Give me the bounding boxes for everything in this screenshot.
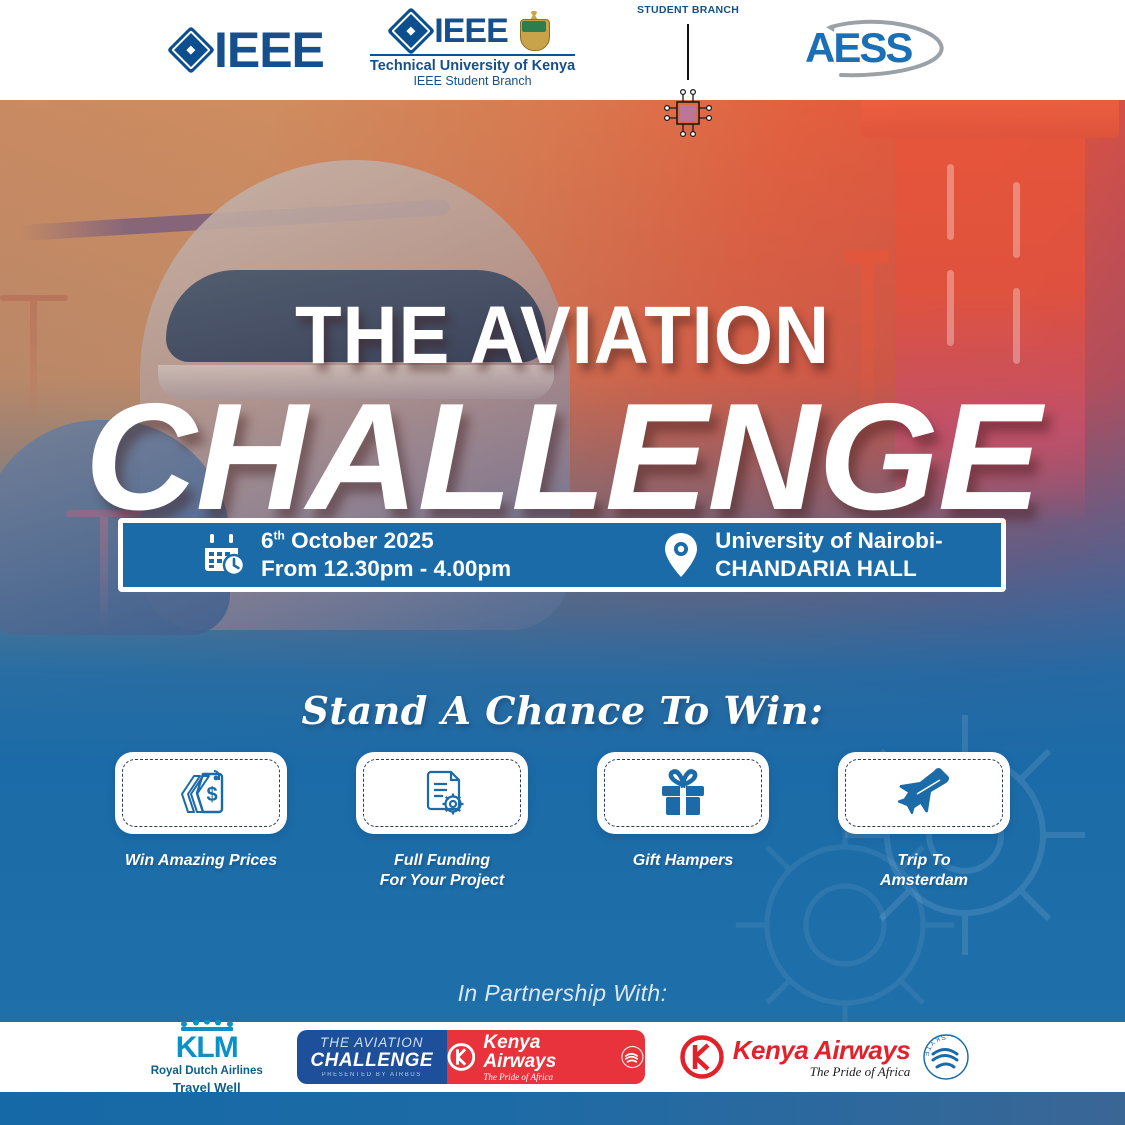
prize-item: Trip To Amsterdam [833,752,1015,892]
footer-strip [0,1092,1125,1125]
svg-text:$: $ [206,784,217,806]
prize-label: Gift Hampers [633,851,733,871]
prize-card [356,752,528,834]
ieee-uon-logo: ◆ IEEE UNIVERSITY OF NAIROBI STUDENT BRA… [621,0,755,139]
prize-label: Trip To Amsterdam [880,851,968,892]
aviation-challenge-mark: THE AVIATION CHALLENGE PRESENTED BY AIRB… [297,1030,447,1084]
event-info-bar: 6th October 2025 From 12.30pm - 4.00pm U… [118,518,1006,592]
tac-line-3: PRESENTED BY AIRBUS [322,1072,422,1078]
tuk-crest-icon [517,11,551,51]
tuk-name: Technical University of Kenya [370,58,575,75]
aess-logo: AESS [801,19,951,81]
ieee-logo: ◆ IEEE [174,25,324,75]
prizes-row: $ Win Amazing Prices [110,752,1015,892]
kenya-airways-k-icon [679,1034,725,1080]
ieee-tuk-logo: ◆ IEEE Technical University of Kenya IEE… [370,11,575,90]
location-pin-icon [661,531,701,579]
event-time: From 12.30pm - 4.00pm [261,555,511,583]
calendar-clock-icon [201,532,247,578]
skyteam-icon: SKYTEAM [918,1029,974,1085]
tac-line-2: CHALLENGE [310,1051,433,1070]
ieee-diamond-icon: ◆ [387,7,435,55]
venue-line-2: CHANDARIA HALL [715,555,943,583]
title-line-2: CHALLENGE [0,381,1125,533]
prize-label: Full Funding For Your Project [380,851,504,892]
tuk-branch: IEEE Student Branch [370,74,575,89]
klm-subtitle: Royal Dutch Airlines [151,1066,263,1078]
prize-label: Win Amazing Prices [125,851,277,871]
partners-heading: In Partnership With: [0,980,1125,1007]
document-gear-icon [413,764,471,822]
kq-wordmark: Kenya Airways [733,1037,911,1063]
gift-box-icon [654,764,712,822]
ieee-wordmark: IEEE [214,25,324,75]
aviation-challenge-kq-badge: THE AVIATION CHALLENGE PRESENTED BY AIRB… [297,1030,645,1084]
sponsor-logo-band: ◆ IEEE ◆ IEEE Technical University of Ke… [0,0,1125,100]
kenya-airways-k-icon [447,1042,476,1072]
event-venue-block: University of Nairobi- CHANDARIA HALL [661,527,943,583]
prize-card [838,752,1010,834]
kq-tagline: The Pride of Africa [733,1065,911,1078]
prize-item: Full Funding For Your Project [351,752,533,892]
ieee-wordmark: IEEE [434,14,507,48]
logo-divider [687,24,689,80]
prize-card: $ [115,752,287,834]
kenya-airways-white-mark: Kenya Airways The Pride of Africa [447,1030,645,1084]
airplane-icon [893,764,955,822]
prize-item: Gift Hampers [592,752,774,892]
aess-wordmark: AESS [805,27,911,69]
price-tag-icon: $ [172,764,230,822]
klm-wordmark: KLM [176,1033,238,1063]
tac-line-1: THE AVIATION [320,1036,424,1050]
prizes-heading: Stand A Chance To Win: [0,688,1125,733]
uon-name: UNIVERSITY OF NAIROBI [621,0,755,4]
event-poster: ◆ IEEE ◆ IEEE Technical University of Ke… [0,0,1125,1125]
title-line-1: THE AVIATION [39,295,1085,377]
prize-item: $ Win Amazing Prices [110,752,292,892]
klm-logo: KLM Royal Dutch Airlines Travel Well [151,1020,263,1094]
event-date-block: 6th October 2025 From 12.30pm - 4.00pm [201,527,511,583]
kenya-airways-logo: Kenya Airways The Pride of Africa SKYTEA… [679,1029,975,1085]
hero-title: THE AVIATION CHALLENGE [0,295,1125,533]
uon-branch: STUDENT BRANCH [621,4,755,17]
skyteam-icon [620,1044,645,1070]
partner-logo-bar: KLM Royal Dutch Airlines Travel Well THE… [0,1022,1125,1092]
event-date: 6th October 2025 [261,527,511,555]
ieee-diamond-icon: ◆ [167,26,215,74]
kq-tagline: The Pride of Africa [483,1072,612,1082]
venue-line-1: University of Nairobi- [715,527,943,555]
microchip-icon [662,87,714,139]
kq-wordmark: Kenya Airways [483,1033,612,1071]
prize-card [597,752,769,834]
